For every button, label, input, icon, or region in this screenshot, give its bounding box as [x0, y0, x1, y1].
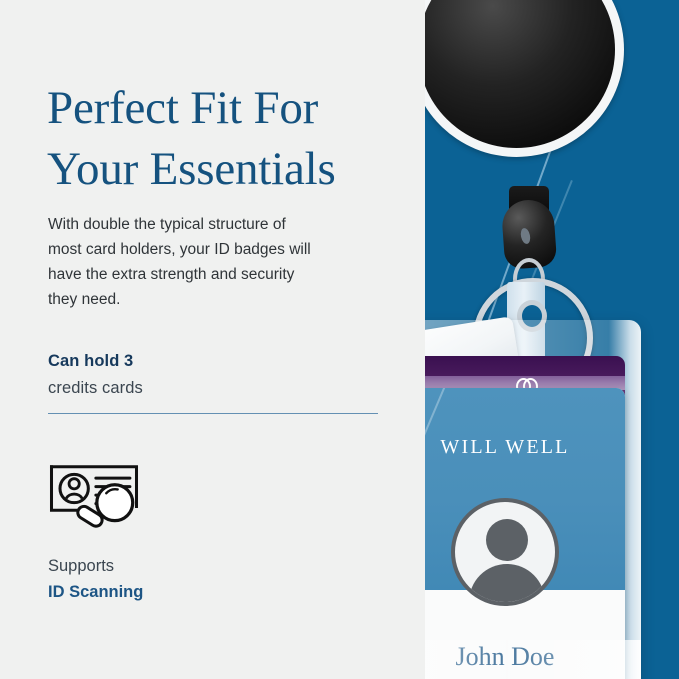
person-avatar-icon	[451, 498, 559, 606]
headline-line-1: Perfect Fit For	[47, 82, 318, 134]
capacity-title: Can hold 3	[48, 352, 378, 371]
scan-label: Supports ID Scanning	[48, 553, 143, 606]
scan-label-bold: ID Scanning	[48, 579, 143, 605]
body-copy: With double the typical structure of mos…	[48, 212, 323, 312]
avatar-body	[469, 564, 545, 606]
left-text-panel: Perfect Fit For Your Essentials With dou…	[0, 0, 425, 679]
id-scanning-feature: Supports ID Scanning	[48, 463, 143, 606]
badge-reel	[421, 0, 624, 157]
avatar-head	[486, 519, 528, 561]
section-divider	[48, 413, 378, 414]
id-card-scan-icon	[48, 463, 140, 531]
id-card: WILL WELL John Doe	[421, 388, 625, 679]
id-card-organization: WILL WELL	[421, 436, 625, 459]
capacity-feature: Can hold 3 credits cards	[48, 352, 378, 414]
headline-line-2: Your Essentials	[47, 139, 387, 200]
page-title: Perfect Fit For Your Essentials	[47, 78, 387, 200]
capacity-subtitle: credits cards	[48, 379, 378, 398]
scan-label-top: Supports	[48, 557, 114, 575]
card-holder-front-lip	[421, 640, 641, 679]
product-photo: WILL WELL John Doe	[421, 0, 679, 679]
product-marketing-image: Perfect Fit For Your Essentials With dou…	[0, 0, 679, 679]
